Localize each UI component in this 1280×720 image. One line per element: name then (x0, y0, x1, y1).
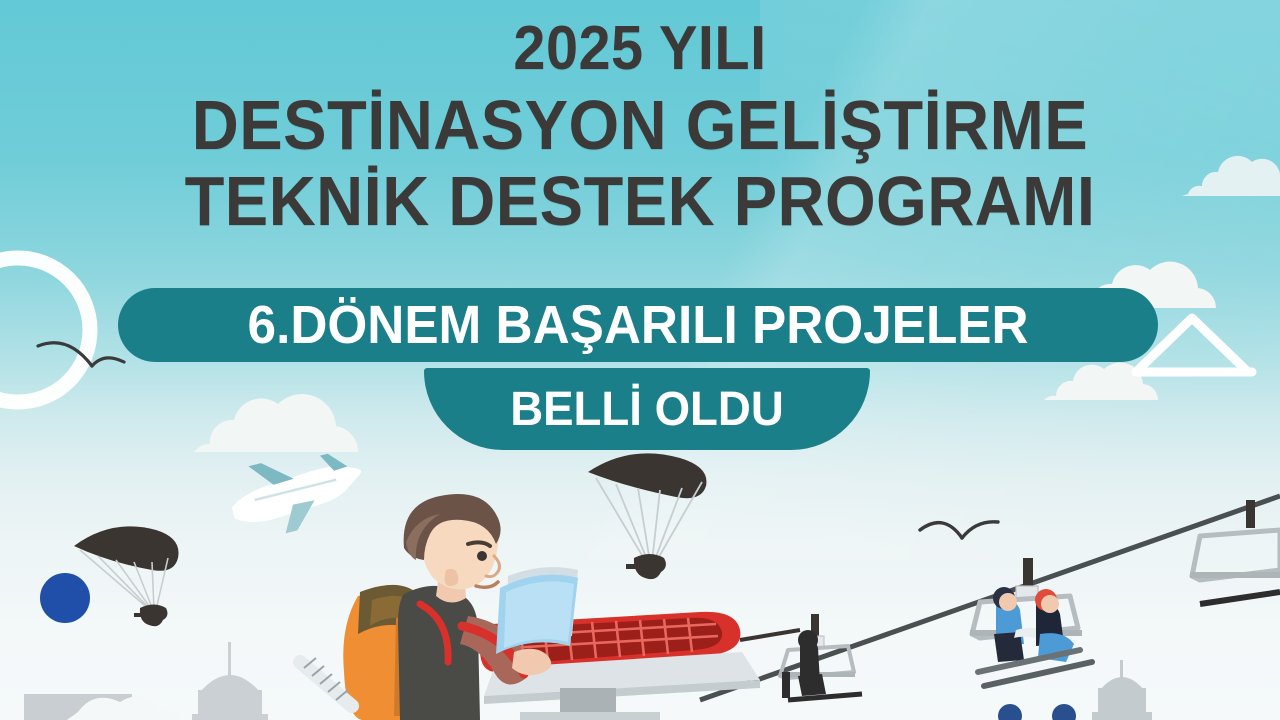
ground-dots (998, 704, 1076, 720)
chairlift-center (970, 558, 1092, 686)
tower-silhouette (192, 642, 268, 720)
foreground-illustration-layer (0, 0, 1280, 720)
chairlift-right (1190, 500, 1280, 604)
poster-root: 2025 YILI DESTİNASYON GELİŞTİRME TEKNİK … (0, 0, 1280, 720)
building-silhouette-right (1092, 660, 1152, 720)
